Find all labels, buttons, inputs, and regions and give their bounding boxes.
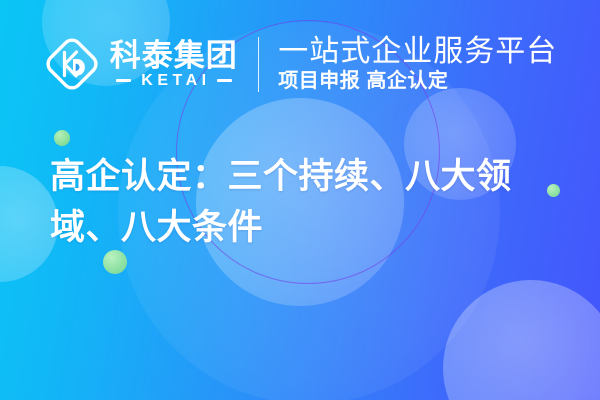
brand-name-en: KETAI xyxy=(137,73,211,89)
tagline-main: 一站式企业服务平台 xyxy=(278,36,557,68)
background-circle-bottom-right xyxy=(443,280,600,400)
brand-name-en-row: KETAI xyxy=(110,73,238,89)
ketai-diamond-kd-logo-icon xyxy=(43,35,101,93)
banner-header: 科泰集团 KETAI 一站式企业服务平台 项目申报 高企认定 xyxy=(0,0,600,128)
brand-rule-right-icon xyxy=(217,79,232,82)
tagline-sub: 项目申报 高企认定 xyxy=(278,71,557,92)
page-title: 高企认定：三个持续、八大领域、八大条件 xyxy=(50,152,560,254)
brand-wordmark: 科泰集团 KETAI xyxy=(110,40,238,89)
promo-banner: 科泰集团 KETAI 一站式企业服务平台 项目申报 高企认定 高企认定：三个持续… xyxy=(0,0,600,400)
header-taglines: 一站式企业服务平台 项目申报 高企认定 xyxy=(278,36,557,93)
accent-dot-upper-left xyxy=(54,130,70,146)
accent-dot-lower-left xyxy=(103,250,127,274)
brand-name-cn: 科泰集团 xyxy=(110,40,238,71)
brand-lockup[interactable]: 科泰集团 KETAI xyxy=(43,35,238,93)
brand-rule-left-icon xyxy=(116,79,131,82)
header-divider xyxy=(258,37,260,92)
